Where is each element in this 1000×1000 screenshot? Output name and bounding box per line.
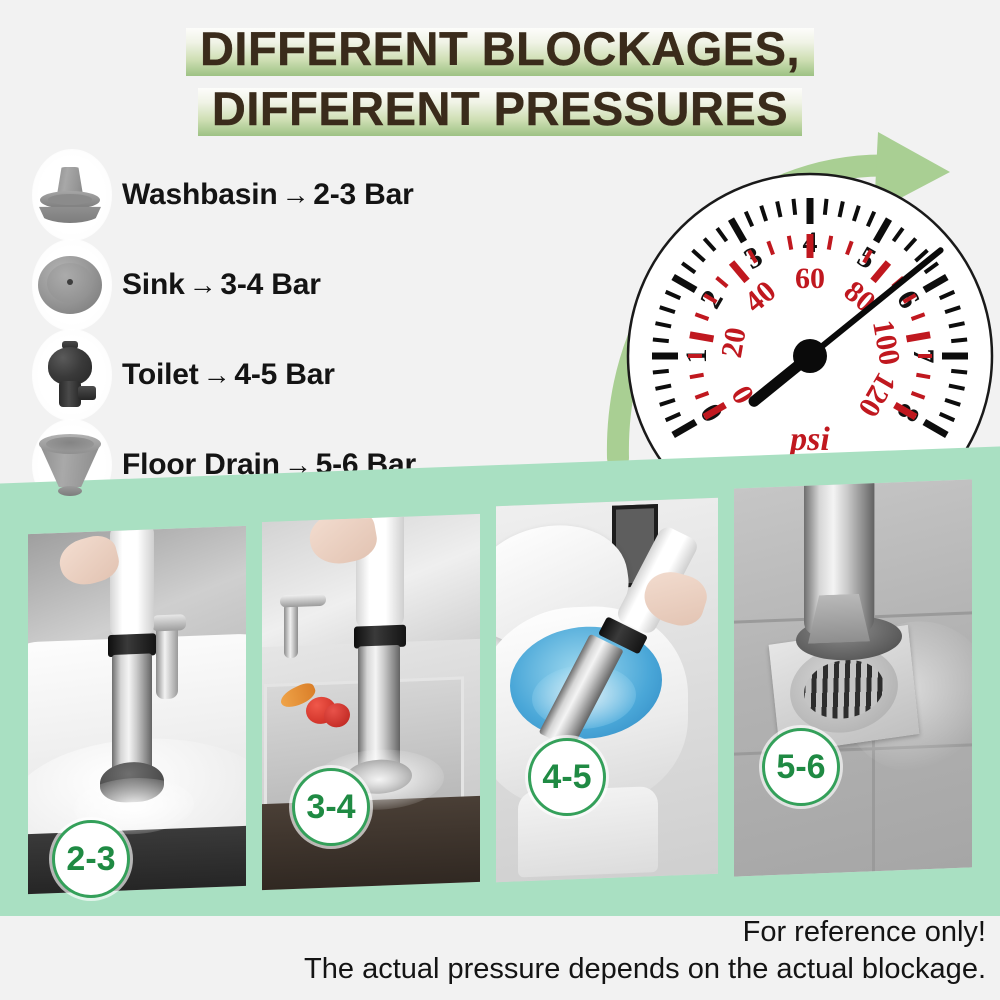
badge-label: 4-5 xyxy=(542,758,591,797)
photo-strip: 2-3 xyxy=(0,440,1000,920)
list-item-text: Sink→3-4 Bar xyxy=(122,268,321,302)
list-item-value: 4-5 Bar xyxy=(234,358,334,391)
disclaimer-line-1: For reference only! xyxy=(0,914,986,951)
badge-label: 5-6 xyxy=(776,748,825,787)
arrow-icon: → xyxy=(185,269,221,301)
list-item-label: Sink xyxy=(122,268,185,301)
dome-disc-icon xyxy=(18,241,122,329)
list-item: Sink→3-4 Bar xyxy=(18,240,538,330)
list-item-text: Washbasin→2-3 Bar xyxy=(122,178,414,212)
disclaimer: For reference only! The actual pressure … xyxy=(0,914,1000,987)
list-item-value: 3-4 Bar xyxy=(220,268,320,301)
panel-toilet xyxy=(496,498,718,883)
disclaimer-line-2: The actual pressure depends on the actua… xyxy=(0,951,986,988)
list-item: Toilet→4-5 Bar xyxy=(18,330,538,420)
list-item-text: Toilet→4-5 Bar xyxy=(122,358,335,392)
badge-sink: 3-4 xyxy=(292,768,370,846)
bell-cup-icon xyxy=(18,151,122,239)
svg-text:60: 60 xyxy=(795,262,825,295)
page-title: DIFFERENT BLOCKAGES, DIFFERENT PRESSURES xyxy=(0,22,1000,138)
list-item-value: 2-3 Bar xyxy=(313,178,413,211)
panel-floor-drain xyxy=(734,479,972,876)
bulb-valve-icon xyxy=(18,331,122,419)
badge-floor-drain: 5-6 xyxy=(762,728,840,806)
gauge-dial: 012345678 020406080100120 psi xyxy=(600,128,1000,488)
infographic-root: DIFFERENT BLOCKAGES, DIFFERENT PRESSURES… xyxy=(0,0,1000,1000)
badge-toilet: 4-5 xyxy=(528,738,606,816)
badge-washbasin: 2-3 xyxy=(52,820,130,898)
badge-label: 3-4 xyxy=(306,788,355,827)
badge-label: 2-3 xyxy=(66,840,115,879)
list-item-label: Washbasin xyxy=(122,178,277,211)
title-line-1: DIFFERENT BLOCKAGES, xyxy=(186,22,814,78)
panel-sink xyxy=(262,514,480,890)
arrow-icon: → xyxy=(277,179,313,211)
list-item-label: Toilet xyxy=(122,358,199,391)
pressure-gauge: 012345678 020406080100120 psi xyxy=(600,128,1000,488)
svg-text:20: 20 xyxy=(715,325,753,360)
list-item: Washbasin→2-3 Bar xyxy=(18,150,538,240)
arrow-icon: → xyxy=(199,359,235,391)
